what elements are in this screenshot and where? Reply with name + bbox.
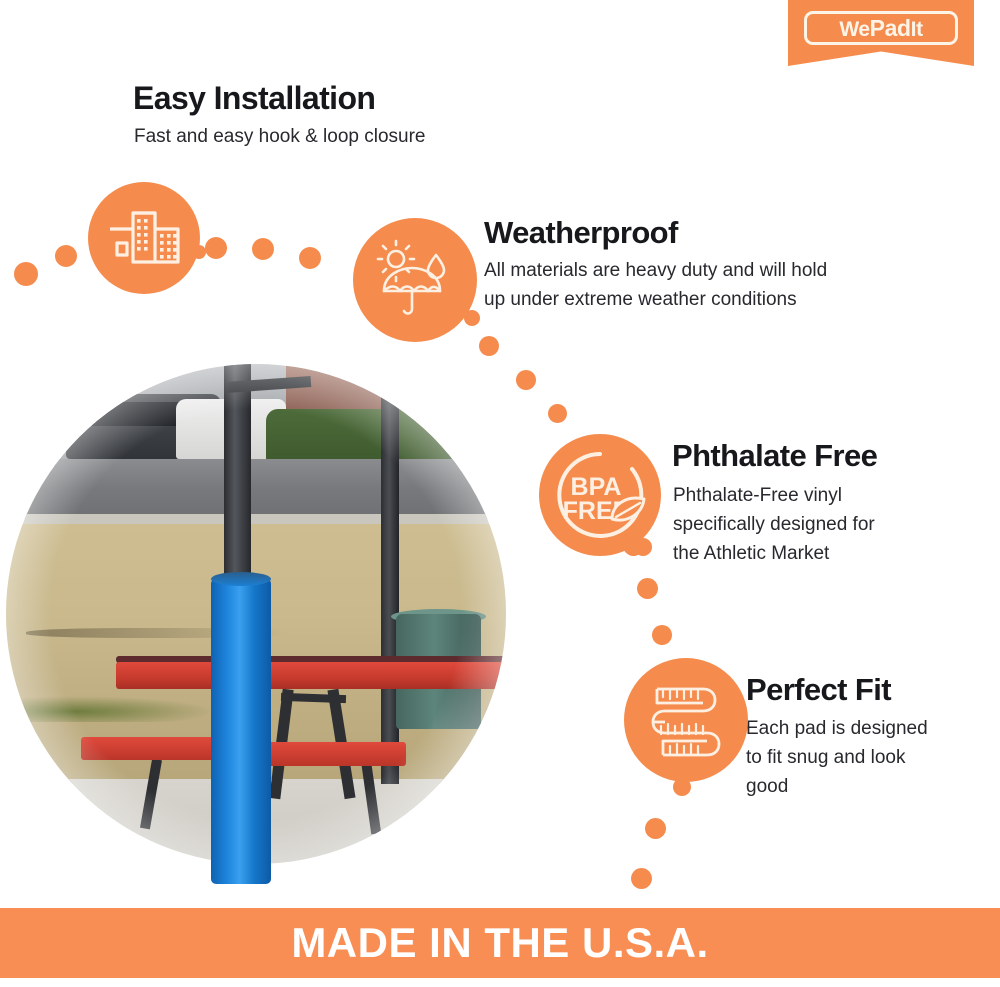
badge-nub [464, 310, 480, 326]
feature-title-phthalate-free: Phthalate Free [672, 438, 877, 474]
logo-text-we: We [839, 18, 869, 41]
feature-body-easy-installation: Fast and easy hook & loop closure [134, 124, 426, 150]
pole-pad-top-cap [211, 572, 271, 586]
building-icon-badge [88, 182, 200, 294]
trail-dot [479, 336, 499, 356]
product-feature-infographic: WePadIt Easy Installation Fast and easy … [0, 0, 1000, 987]
perfect-fit-icon-badge [624, 658, 748, 782]
feature-title-easy-installation: Easy Installation [133, 80, 375, 117]
trail-dot [623, 535, 644, 556]
trail-dot [645, 818, 666, 839]
feature-body-weatherproof: All materials are heavy duty and will ho… [484, 256, 827, 314]
trail-dot [631, 868, 652, 889]
trail-dot [205, 237, 227, 259]
blue-pole-pad [211, 578, 271, 884]
feature-body-line: Fast and easy hook & loop closure [134, 124, 426, 150]
trail-dot [252, 238, 274, 260]
feature-body-line: All materials are heavy duty and will ho… [484, 256, 827, 285]
measuring-tape-icon [643, 677, 729, 763]
feature-body-phthalate-free: Phthalate-Free vinyl specifically design… [673, 481, 875, 568]
logo-text-it: It [911, 18, 923, 41]
umbrella-sun-rain-icon [372, 237, 458, 323]
feature-body-line: the Athletic Market [673, 539, 875, 568]
building-icon [107, 205, 181, 271]
feature-body-line: good [746, 772, 928, 801]
feature-body-perfect-fit: Each pad is designed to fit snug and loo… [746, 714, 928, 801]
feature-body-line: Phthalate-Free vinyl [673, 481, 875, 510]
trail-dot [14, 262, 38, 286]
trail-dot [55, 245, 77, 267]
logo-wordmark: WePadIt [839, 17, 922, 40]
feature-body-line: up under extreme weather conditions [484, 285, 827, 314]
feature-title-perfect-fit: Perfect Fit [746, 672, 891, 708]
feature-title-weatherproof: Weatherproof [484, 215, 678, 251]
feature-body-line: to fit snug and look [746, 743, 928, 772]
trail-dot [516, 370, 536, 390]
made-in-usa-banner: MADE IN THE U.S.A. [0, 908, 1000, 978]
weatherproof-icon-badge [353, 218, 477, 342]
wepadit-logo: WePadIt [788, 0, 974, 66]
trail-dot [299, 247, 321, 269]
badge-nub [192, 245, 206, 259]
trail-dot [548, 404, 567, 423]
feature-body-line: Each pad is designed [746, 714, 928, 743]
trail-dot [652, 625, 672, 645]
bpa-free-leaf-icon: BPA FREE [548, 443, 652, 547]
trail-dot [637, 578, 658, 599]
logo-text-pad: Pad [870, 15, 911, 41]
badge-nub [673, 778, 691, 796]
feature-body-line: specifically designed for [673, 510, 875, 539]
logo-plate: WePadIt [804, 11, 958, 45]
made-in-usa-text: MADE IN THE U.S.A. [291, 919, 708, 967]
